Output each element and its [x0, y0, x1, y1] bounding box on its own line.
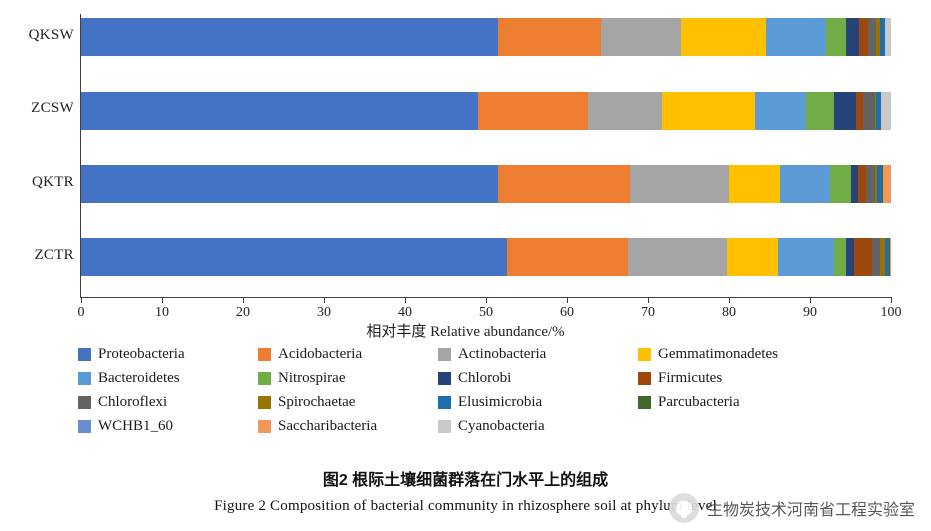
- bar-segment-bacteroidetes: [766, 18, 826, 56]
- legend-label: Firmicutes: [658, 370, 722, 387]
- legend-swatch-icon: [78, 420, 91, 433]
- bar-segment-acidobacteria: [507, 238, 628, 276]
- legend-label: Cyanobacteria: [458, 418, 545, 435]
- legend-label: Bacteroidetes: [98, 370, 180, 387]
- bar-segment-actinobacteria: [630, 165, 729, 203]
- x-tick-mark: [162, 297, 163, 303]
- legend-label: Parcubacteria: [658, 394, 740, 411]
- bar-segment-actinobacteria: [601, 18, 681, 56]
- legend-item-wchb1_60[interactable]: WCHB1_60: [78, 418, 173, 435]
- legend-swatch-icon: [438, 372, 451, 385]
- legend-row: ChloroflexiSpirochaetaeElusimicrobiaParc…: [78, 394, 918, 418]
- bar-segment-chloroflexi: [868, 18, 877, 56]
- bar-segment-bacteroidetes: [755, 92, 806, 130]
- bar-segment-cyanobacteria: [885, 18, 891, 56]
- bar-segment-bacteroidetes: [780, 165, 830, 203]
- bar-segment-actinobacteria: [628, 238, 728, 276]
- bar-segment-cyanobacteria: [881, 92, 891, 130]
- legend-label: Acidobacteria: [278, 346, 362, 363]
- bar-segment-chloroflexi: [863, 92, 874, 130]
- x-tick-label: 0: [78, 305, 85, 321]
- bar-segment-proteobacteria: [81, 92, 478, 130]
- legend-item-gemmatimonadetes[interactable]: Gemmatimonadetes: [638, 346, 778, 363]
- category-label-qktr: QKTR: [8, 174, 74, 191]
- figure-caption-chinese: 图2 根际土壤细菌群落在门水平上的组成: [0, 466, 931, 490]
- legend-swatch-icon: [258, 396, 271, 409]
- bar-segment-acidobacteria: [498, 165, 630, 203]
- legend-label: Elusimicrobia: [458, 394, 542, 411]
- bar-segment-chloroflexi: [872, 238, 881, 276]
- category-label-zcsw: ZCSW: [8, 100, 74, 117]
- legend-item-parcubacteria[interactable]: Parcubacteria: [638, 394, 740, 411]
- legend-label: Chloroflexi: [98, 394, 167, 411]
- bar-segment-proteobacteria: [81, 238, 507, 276]
- x-tick-label: 40: [398, 305, 412, 321]
- x-tick-mark: [810, 297, 811, 303]
- bar-segment-chloroflexi: [866, 165, 875, 203]
- bar-segment-saccharibacteria: [890, 238, 891, 276]
- bar-segment-firmicutes: [856, 92, 863, 130]
- wechat-logo-icon: [669, 493, 699, 523]
- bar-segment-gemmatimonadetes: [662, 92, 755, 130]
- legend-label: Gemmatimonadetes: [658, 346, 778, 363]
- bar-segment-chlorobi: [846, 18, 858, 56]
- bar-segment-nitrospirae: [834, 238, 845, 276]
- y-axis-line: [80, 14, 81, 297]
- legend-item-acidobacteria[interactable]: Acidobacteria: [258, 346, 362, 363]
- x-tick-label: 30: [317, 305, 331, 321]
- legend-label: Actinobacteria: [458, 346, 546, 363]
- legend-label: Spirochaetae: [278, 394, 355, 411]
- legend-row: ProteobacteriaAcidobacteriaActinobacteri…: [78, 346, 918, 370]
- legend-swatch-icon: [258, 348, 271, 361]
- x-tick-mark: [243, 297, 244, 303]
- x-tick-mark: [891, 297, 892, 303]
- legend-swatch-icon: [258, 372, 271, 385]
- legend-swatch-icon: [78, 348, 91, 361]
- x-tick-label: 50: [479, 305, 493, 321]
- legend-swatch-icon: [258, 420, 271, 433]
- legend-swatch-icon: [78, 372, 91, 385]
- legend-item-bacteroidetes[interactable]: Bacteroidetes: [78, 370, 180, 387]
- legend-swatch-icon: [638, 348, 651, 361]
- bar-segment-gemmatimonadetes: [729, 165, 780, 203]
- bar-segment-chlorobi: [834, 92, 856, 130]
- x-tick-label: 90: [803, 305, 817, 321]
- legend-label: WCHB1_60: [98, 418, 173, 435]
- bar-segment-bacteroidetes: [778, 238, 835, 276]
- bar-segment-gemmatimonadetes: [681, 18, 766, 56]
- legend-row: WCHB1_60SaccharibacteriaCyanobacteria: [78, 418, 918, 442]
- bar-segment-proteobacteria: [81, 18, 498, 56]
- x-tick-mark: [486, 297, 487, 303]
- figure-container: QKSW ZCSW QKTR ZCTR 01020304050607080901…: [0, 0, 931, 531]
- legend-swatch-icon: [438, 396, 451, 409]
- x-tick-label: 20: [236, 305, 250, 321]
- bar-segment-saccharibacteria: [883, 165, 891, 203]
- x-tick-mark: [81, 297, 82, 303]
- bar-segment-nitrospirae: [830, 165, 850, 203]
- legend-swatch-icon: [438, 348, 451, 361]
- legend-swatch-icon: [438, 420, 451, 433]
- legend-label: Chlorobi: [458, 370, 511, 387]
- legend-label: Nitrospirae: [278, 370, 345, 387]
- watermark: 生物炭技术河南省工程实验室: [669, 493, 915, 523]
- chart-legend: ProteobacteriaAcidobacteriaActinobacteri…: [78, 346, 918, 442]
- x-tick-label: 60: [560, 305, 574, 321]
- x-tick-mark: [324, 297, 325, 303]
- x-tick-label: 80: [722, 305, 736, 321]
- bar-segment-nitrospirae: [826, 18, 846, 56]
- x-tick-label: 100: [881, 305, 902, 321]
- legend-label: Proteobacteria: [98, 346, 185, 363]
- watermark-text: 生物炭技术河南省工程实验室: [707, 496, 915, 520]
- bar-segment-nitrospirae: [806, 92, 834, 130]
- bar-segment-firmicutes: [854, 238, 872, 276]
- legend-item-actinobacteria[interactable]: Actinobacteria: [438, 346, 546, 363]
- bar-segment-firmicutes: [858, 165, 866, 203]
- legend-item-spirochaetae[interactable]: Spirochaetae: [258, 394, 355, 411]
- bar-segment-firmicutes: [859, 18, 868, 56]
- bar-qktr: [81, 165, 891, 203]
- x-tick-label: 70: [641, 305, 655, 321]
- legend-row: BacteroidetesNitrospiraeChlorobiFirmicut…: [78, 370, 918, 394]
- bar-zcsw: [81, 92, 891, 130]
- legend-item-cyanobacteria[interactable]: Cyanobacteria: [438, 418, 545, 435]
- legend-item-chlorobi[interactable]: Chlorobi: [438, 370, 511, 387]
- legend-item-chloroflexi[interactable]: Chloroflexi: [78, 394, 167, 411]
- x-axis-title: 相对丰度 Relative abundance/%: [0, 320, 931, 341]
- bar-qksw: [81, 18, 891, 56]
- category-label-qksw: QKSW: [8, 27, 74, 44]
- legend-item-elusimicrobia[interactable]: Elusimicrobia: [438, 394, 542, 411]
- x-tick-mark: [648, 297, 649, 303]
- chart-plot-area: QKSW ZCSW QKTR ZCTR 01020304050607080901…: [0, 0, 931, 300]
- x-tick-mark: [567, 297, 568, 303]
- legend-item-firmicutes[interactable]: Firmicutes: [638, 370, 722, 387]
- bar-segment-acidobacteria: [478, 92, 588, 130]
- legend-item-saccharibacteria[interactable]: Saccharibacteria: [258, 418, 377, 435]
- category-label-zctr: ZCTR: [8, 247, 74, 264]
- legend-swatch-icon: [78, 396, 91, 409]
- bar-segment-chlorobi: [846, 238, 854, 276]
- bar-segment-acidobacteria: [498, 18, 601, 56]
- bar-segment-gemmatimonadetes: [727, 238, 777, 276]
- bar-zctr: [81, 238, 891, 276]
- bar-segment-actinobacteria: [588, 92, 662, 130]
- x-tick-mark: [405, 297, 406, 303]
- bar-segment-proteobacteria: [81, 165, 498, 203]
- legend-label: Saccharibacteria: [278, 418, 377, 435]
- legend-item-nitrospirae[interactable]: Nitrospirae: [258, 370, 345, 387]
- legend-swatch-icon: [638, 372, 651, 385]
- x-tick-label: 10: [155, 305, 169, 321]
- legend-item-proteobacteria[interactable]: Proteobacteria: [78, 346, 185, 363]
- x-tick-mark: [729, 297, 730, 303]
- bar-segment-chlorobi: [851, 165, 858, 203]
- legend-swatch-icon: [638, 396, 651, 409]
